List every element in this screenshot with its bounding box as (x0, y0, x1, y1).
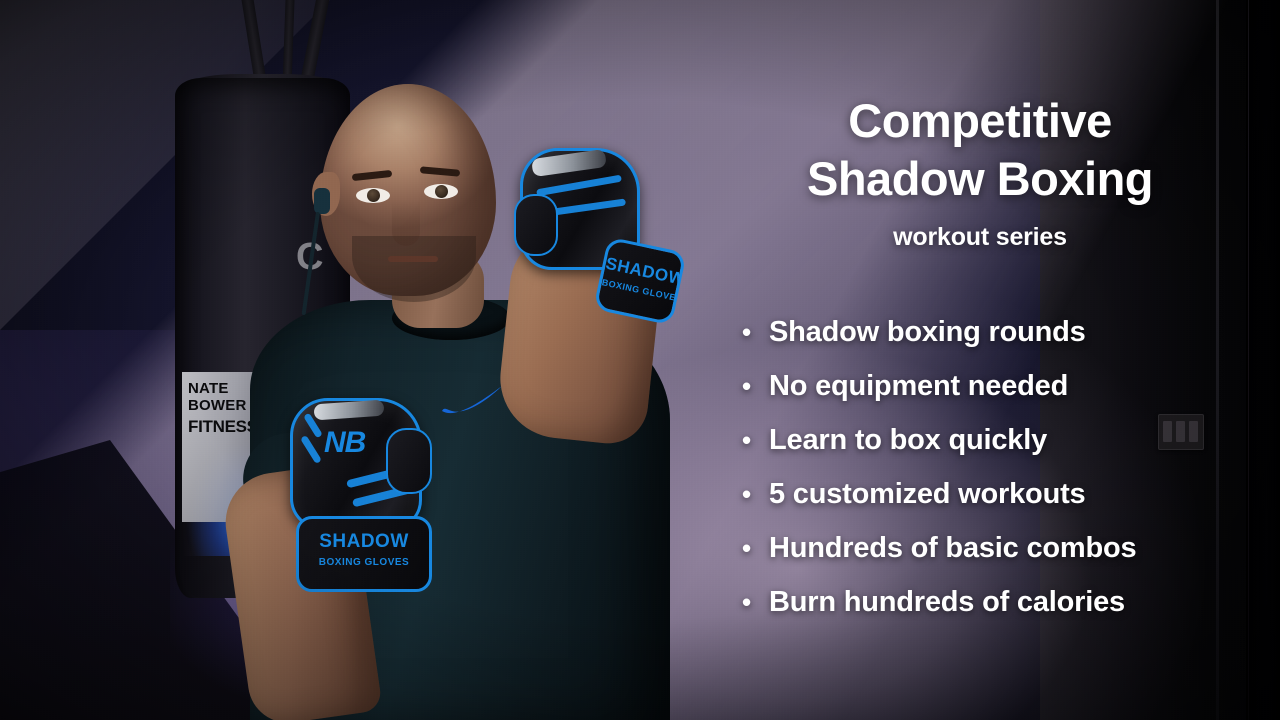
nike-swoosh-icon (440, 385, 504, 415)
light-switch-plate (1158, 414, 1204, 450)
glove-thumb (386, 428, 432, 494)
feature-bullet-list: Shadow boxing rounds No equipment needed… (742, 305, 1136, 629)
boxing-glove-upper: SHADOW BOXING GLOVES (520, 148, 640, 270)
light-switch-toggle (1189, 421, 1198, 442)
boxer-figure: SHADOW BOXING GLOVES NB SHADOW BOXING GL… (0, 0, 760, 720)
title-block: Competitive Shadow Boxing workout series (700, 92, 1260, 254)
boxing-glove-lower: NB SHADOW BOXING GLOVES (290, 398, 422, 530)
list-item: Burn hundreds of calories (742, 575, 1136, 629)
list-item: 5 customized workouts (742, 467, 1136, 521)
glove-nb-logo: NB (324, 426, 365, 460)
page-title-line-1: Competitive (700, 92, 1260, 150)
light-switch-toggle (1176, 421, 1185, 442)
glove-cuff-line-1: SHADOW (299, 531, 429, 553)
list-item: Hundreds of basic combos (742, 521, 1136, 575)
pupil (435, 185, 448, 198)
page-subtitle: workout series (700, 220, 1260, 254)
earbud-icon (314, 188, 330, 214)
mouth (388, 256, 438, 262)
eye-left (356, 188, 390, 203)
glove-cuff: SHADOW BOXING GLOVES (296, 516, 432, 592)
list-item: Learn to box quickly (742, 413, 1136, 467)
light-switch-toggle (1163, 421, 1172, 442)
nose (392, 200, 420, 246)
slide-canvas: C NATE BOWER FITNESS (0, 0, 1280, 720)
page-title-line-2: Shadow Boxing (700, 150, 1260, 208)
glove-thumb (514, 194, 558, 256)
list-item: Shadow boxing rounds (742, 305, 1136, 359)
earbud-cord (302, 212, 320, 316)
pupil (367, 189, 380, 202)
list-item: No equipment needed (742, 359, 1136, 413)
glove-cuff-line-2: BOXING GLOVES (299, 557, 429, 568)
eye-right (424, 184, 458, 199)
